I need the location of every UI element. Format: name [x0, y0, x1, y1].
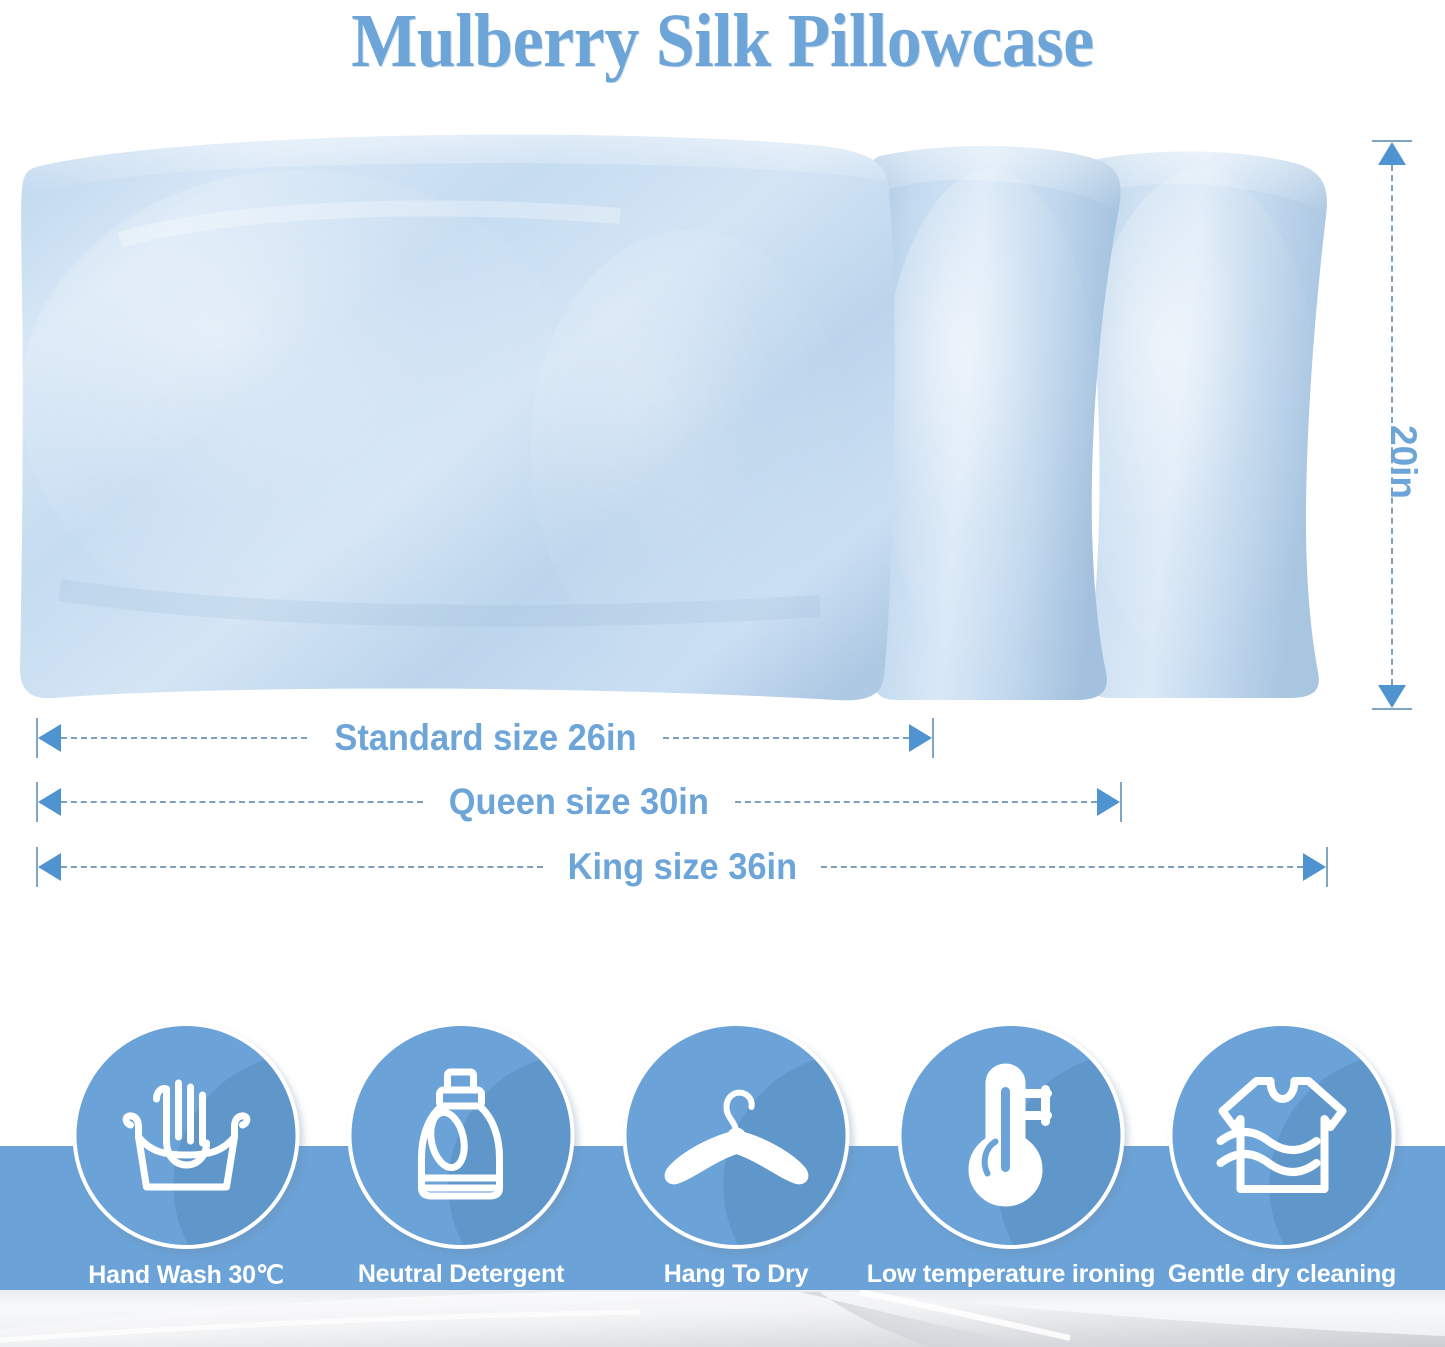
dim-right-arrow-icon	[1097, 788, 1120, 816]
page-title: Mulberry Silk Pillowcase	[58, 2, 1387, 82]
vdim-label: 20in	[1382, 425, 1424, 499]
dim-dash-left	[61, 737, 307, 739]
dim-left-arrow-icon	[38, 724, 61, 752]
care-item-hang-to-dry: Hang To Dry	[612, 1022, 860, 1312]
dimension-standard-label: Standard size 26in	[319, 717, 651, 759]
dim-dash-left	[61, 801, 423, 803]
vdim-bottom-cap	[1372, 708, 1412, 710]
vertical-dimension-20in: 20in	[1347, 140, 1437, 710]
silk-drape	[0, 1290, 1445, 1347]
dimension-queen-label: Queen size 30in	[434, 781, 724, 823]
vdim-down-arrow-icon	[1378, 685, 1406, 708]
care-circle	[898, 1022, 1125, 1249]
care-circle	[1169, 1022, 1396, 1249]
dim-dash-right	[663, 737, 909, 739]
vdim-dashed-line: 20in	[1391, 165, 1393, 685]
front-pillow	[20, 135, 895, 701]
dimension-king: King size 36in	[36, 845, 1328, 889]
vdim-up-arrow-icon	[1378, 142, 1406, 165]
detergent-bottle-icon	[401, 1066, 521, 1206]
hand-wash-icon	[116, 1071, 256, 1201]
product-infographic: Mulberry Silk Pillowcase	[0, 0, 1445, 1347]
hanger-icon	[656, 1081, 816, 1191]
dimension-queen: Queen size 30in	[36, 780, 1122, 824]
care-label: Low temperature ironing	[867, 1260, 1155, 1289]
bottom-silk-fabric	[0, 1290, 1445, 1347]
dim-right-arrow-icon	[1303, 853, 1326, 881]
care-label: Hang To Dry	[664, 1260, 809, 1289]
care-circle	[73, 1022, 300, 1249]
dimension-king-label: King size 36in	[552, 846, 811, 888]
dim-dash-right	[735, 801, 1097, 803]
dimension-standard: Standard size 26in	[36, 716, 934, 760]
care-instructions-row: Hand Wash 30℃ Neutral Detergent	[0, 1022, 1445, 1312]
pillow-group	[0, 120, 1340, 720]
dim-right-cap	[1120, 782, 1122, 822]
dim-left-arrow-icon	[38, 788, 61, 816]
dim-right-cap	[932, 718, 934, 758]
dry-clean-shirt-icon	[1212, 1071, 1352, 1201]
middle-pillow	[869, 146, 1120, 700]
dim-dash-left	[61, 866, 543, 868]
dim-right-cap	[1326, 847, 1328, 887]
care-label: Neutral Detergent	[358, 1260, 564, 1289]
care-label: Gentle dry cleaning	[1168, 1260, 1396, 1289]
care-circle	[623, 1022, 850, 1249]
back-pillow	[1080, 151, 1327, 698]
care-item-neutral-detergent: Neutral Detergent	[337, 1022, 585, 1312]
dim-dash-right	[821, 866, 1303, 868]
care-circle	[348, 1022, 575, 1249]
care-item-hand-wash: Hand Wash 30℃	[62, 1022, 310, 1312]
care-label: Hand Wash 30℃	[88, 1260, 283, 1290]
dim-left-arrow-icon	[38, 853, 61, 881]
dim-right-arrow-icon	[909, 724, 932, 752]
pillow-stage	[0, 120, 1340, 720]
thermometer-icon	[951, 1063, 1071, 1208]
care-item-gentle-dry-cleaning: Gentle dry cleaning	[1158, 1022, 1406, 1312]
care-item-low-temperature-ironing: Low temperature ironing	[887, 1022, 1135, 1312]
